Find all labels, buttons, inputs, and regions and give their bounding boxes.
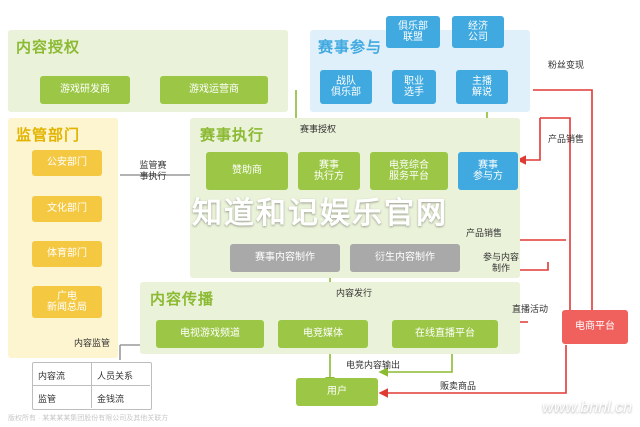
node-user[interactable]: 用户 bbox=[296, 378, 378, 406]
diagram-canvas: 内容授权 监管部门 赛事执行 赛事参与 内容传播 游戏研发商 游戏运营商 公安部… bbox=[0, 0, 640, 427]
edge-label-content-release: 内容发行 bbox=[336, 288, 372, 299]
node-pro-player[interactable]: 职业 选手 bbox=[392, 70, 436, 104]
node-game-developer[interactable]: 游戏研发商 bbox=[40, 76, 130, 104]
node-sarft[interactable]: 广电 新闻总局 bbox=[32, 286, 102, 318]
legend-divider-horizontal bbox=[32, 385, 150, 386]
node-event-executor[interactable]: 赛事 执行方 bbox=[298, 152, 360, 190]
url-watermark: www.bnnl.cn bbox=[542, 399, 632, 417]
node-anchor-commentator[interactable]: 主播 解说 bbox=[456, 70, 508, 104]
node-economic-company[interactable]: 经济 公司 bbox=[452, 16, 504, 48]
node-public-security-dept[interactable]: 公安部门 bbox=[32, 150, 102, 176]
edge-label-event-authorization: 赛事授权 bbox=[300, 124, 336, 135]
edge-label-fan-monetization: 粉丝变现 bbox=[548, 60, 584, 71]
node-game-operator[interactable]: 游戏运营商 bbox=[160, 76, 268, 104]
legend-content-flow: 内容流 bbox=[38, 369, 65, 382]
node-live-stream-platform[interactable]: 在线直播平台 bbox=[392, 320, 498, 348]
edge-label-product-sales-mid: 产品销售 bbox=[466, 228, 502, 239]
node-team-club[interactable]: 战队 俱乐部 bbox=[320, 70, 372, 104]
node-event-participant[interactable]: 赛事 参与方 bbox=[458, 152, 518, 190]
legend-money-flow: 金钱流 bbox=[97, 392, 124, 405]
node-tv-game-channel[interactable]: 电视游戏频道 bbox=[156, 320, 264, 348]
group-title-event-participation: 赛事参与 bbox=[318, 36, 382, 57]
edge-label-product-sales-top: 产品销售 bbox=[548, 134, 584, 145]
node-esports-platform[interactable]: 电竞综合 服务平台 bbox=[370, 152, 448, 190]
node-event-content-production[interactable]: 赛事内容制作 bbox=[230, 244, 340, 272]
edge-label-regulate-event: 监管赛 事执行 bbox=[130, 160, 176, 182]
edge-label-live-activity: 直播活动 bbox=[512, 304, 548, 315]
node-club-alliance[interactable]: 俱乐部 联盟 bbox=[386, 16, 440, 48]
group-title-content-authorization: 内容授权 bbox=[16, 36, 80, 57]
footnote-text: 版权所有 · 某某某某集团股份有限公司及其他关联方 bbox=[8, 413, 168, 423]
node-culture-dept[interactable]: 文化部门 bbox=[32, 196, 102, 222]
node-derivative-content-production[interactable]: 衍生内容制作 bbox=[350, 244, 460, 272]
node-sponsor[interactable]: 赞助商 bbox=[206, 152, 288, 190]
node-ecommerce-platform[interactable]: 电商平台 bbox=[562, 310, 628, 344]
group-title-event-execution: 赛事执行 bbox=[200, 124, 264, 145]
node-sports-dept[interactable]: 体育部门 bbox=[32, 241, 102, 267]
group-title-regulators: 监管部门 bbox=[16, 124, 80, 145]
legend-personnel: 人员关系 bbox=[97, 369, 133, 382]
group-title-content-distribution: 内容传播 bbox=[150, 288, 214, 309]
edge-label-content-regulation: 内容监管 bbox=[74, 338, 110, 349]
node-esports-media[interactable]: 电竞媒体 bbox=[278, 320, 368, 348]
edge-label-participate-content: 参与内容 制作 bbox=[478, 252, 524, 274]
edge-label-sell-goods: 贩卖商品 bbox=[440, 381, 476, 392]
edge-label-esports-output: 电竞内容输出 bbox=[346, 360, 400, 371]
legend-regulation: 监管 bbox=[38, 392, 56, 405]
